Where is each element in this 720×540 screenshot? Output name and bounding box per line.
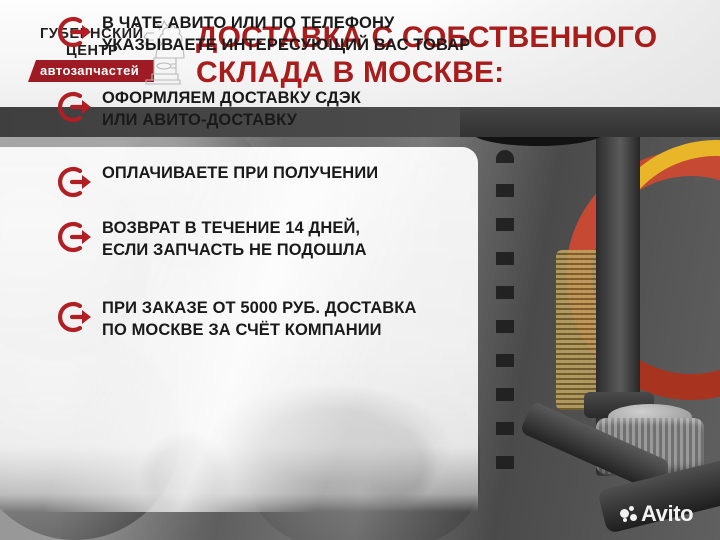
list-item: ОПЛАЧИВАЕТЕ ПРИ ПОЛУЧЕНИИ: [58, 163, 378, 204]
list-item-text: В ЧАТЕ АВИТО ИЛИ ПО ТЕЛЕФОНУ УКАЗЫВАЕТЕ …: [102, 13, 470, 56]
list-item-line-2: УКАЗЫВАЕТЕ ИНТЕРЕСУЮЩИЙ ВАС ТОВАР: [102, 35, 470, 57]
avito-dots-icon: [620, 506, 637, 523]
avito-watermark: Avito: [620, 503, 693, 525]
promo-banner: ГУБЕРНСКИЙ ЦЕНТР автозапчастей ДОСТАВКА …: [0, 0, 720, 540]
list-item-text: ПРИ ЗАКАЗЕ ОТ 5000 РУБ. ДОСТАВКА ПО МОСК…: [102, 298, 417, 341]
list-item: В ЧАТЕ АВИТО ИЛИ ПО ТЕЛЕФОНУ УКАЗЫВАЕТЕ …: [58, 13, 470, 56]
list-item-line-2: ПО МОСКВЕ ЗА СЧЁТ КОМПАНИИ: [102, 320, 417, 342]
page-title-line-2: СКЛАДА В МОСКВЕ:: [196, 55, 706, 90]
list-item-line-1: ВОЗВРАТ В ТЕЧЕНИЕ 14 ДНЕЙ,: [102, 218, 367, 240]
arrow-out-circle-icon: [58, 88, 102, 129]
steps-list: В ЧАТЕ АВИТО ИЛИ ПО ТЕЛЕФОНУ УКАЗЫВАЕТЕ …: [0, 0, 478, 14]
list-item: ОФОРМЛЯЕМ ДОСТАВКУ СДЭК ИЛИ АВИТО-ДОСТАВ…: [58, 88, 361, 131]
list-item-line-2: ЕСЛИ ЗАПЧАСТЬ НЕ ПОДОШЛА: [102, 240, 367, 262]
arrow-out-circle-icon: [58, 298, 102, 339]
list-item: ПРИ ЗАКАЗЕ ОТ 5000 РУБ. ДОСТАВКА ПО МОСК…: [58, 298, 417, 341]
arrow-out-circle-icon: [58, 163, 102, 204]
list-item-line-1: ОПЛАЧИВАЕТЕ ПРИ ПОЛУЧЕНИИ: [102, 163, 378, 185]
logo-banner-label: автозапчастей: [40, 63, 139, 78]
list-item-text: ОФОРМЛЯЕМ ДОСТАВКУ СДЭК ИЛИ АВИТО-ДОСТАВ…: [102, 88, 361, 131]
list-item-line-1: ОФОРМЛЯЕМ ДОСТАВКУ СДЭК: [102, 88, 361, 110]
list-item: ВОЗВРАТ В ТЕЧЕНИЕ 14 ДНЕЙ, ЕСЛИ ЗАПЧАСТЬ…: [58, 218, 367, 261]
arrow-out-circle-icon: [58, 13, 102, 54]
avito-wordmark: Avito: [641, 503, 693, 525]
list-item-line-1: В ЧАТЕ АВИТО ИЛИ ПО ТЕЛЕФОНУ: [102, 13, 470, 35]
list-item-text: ОПЛАЧИВАЕТЕ ПРИ ПОЛУЧЕНИИ: [102, 163, 378, 185]
list-item-line-1: ПРИ ЗАКАЗЕ ОТ 5000 РУБ. ДОСТАВКА: [102, 298, 417, 320]
list-item-line-2: ИЛИ АВИТО-ДОСТАВКУ: [102, 110, 361, 132]
list-item-text: ВОЗВРАТ В ТЕЧЕНИЕ 14 ДНЕЙ, ЕСЛИ ЗАПЧАСТЬ…: [102, 218, 367, 261]
arrow-out-circle-icon: [58, 218, 102, 259]
